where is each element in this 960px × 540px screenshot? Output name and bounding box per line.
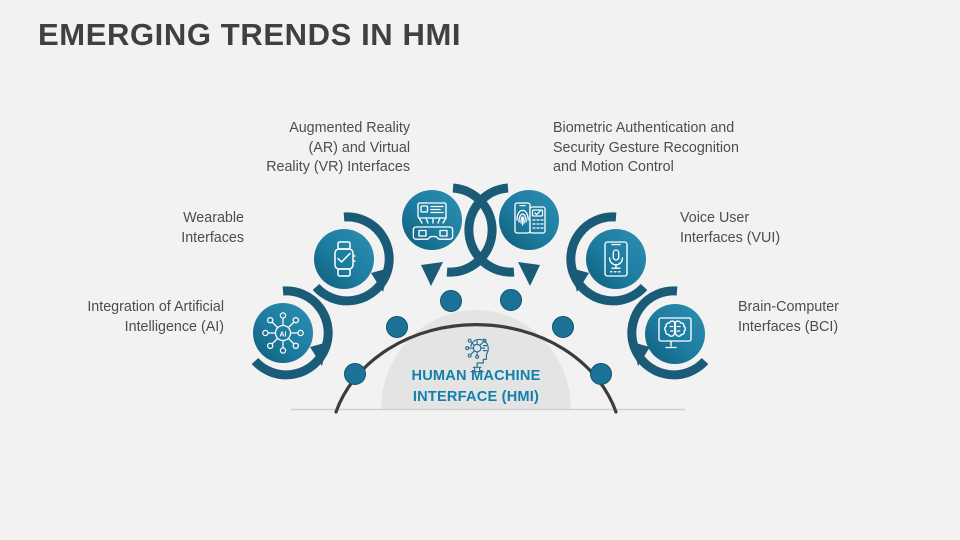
arch-dot [387,317,408,338]
arch-dot [441,291,462,312]
slide-canvas: EMERGING TRENDS IN HMI Integration of Ar… [0,0,960,540]
node-biometric-arrow-icon [518,262,540,286]
node-vui[interactable] [571,217,646,301]
node-biometric[interactable] [469,188,559,286]
arch-dot [553,317,574,338]
arch-dot [345,364,366,385]
node-arvr-arrow-icon [421,262,443,286]
node-arvr-disc [402,190,462,250]
arch-dot [591,364,612,385]
svg-text:AI: AI [280,331,287,338]
center-caption: HUMAN MACHINE INTERFACE (HMI) [376,366,576,408]
hmi-arch-diagram: AI [0,0,960,540]
node-wearable[interactable] [314,217,389,301]
arch-dot [501,290,522,311]
node-biometric-disc [499,190,559,250]
node-ai[interactable]: AI [253,291,328,375]
node-bci[interactable] [632,291,705,375]
node-vui-disc [586,229,646,289]
